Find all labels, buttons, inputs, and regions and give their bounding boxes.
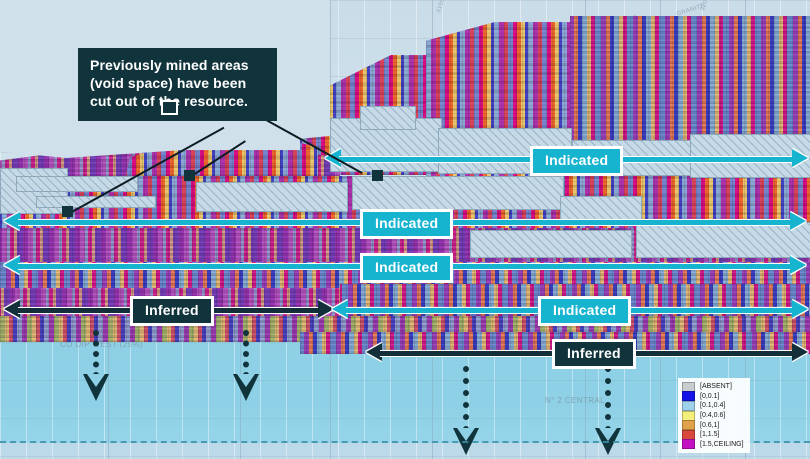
callout-anchor-dot	[62, 206, 73, 217]
legend-label: [0,0.1]	[700, 393, 719, 400]
void-polygon	[360, 106, 416, 130]
legend-swatch-15-ceiling	[682, 439, 695, 449]
legend-swatch-0-01	[682, 391, 695, 401]
void-polygon	[470, 230, 632, 258]
legend-label: [ABSENT]	[700, 383, 732, 390]
legend-label: [0.1,0.4]	[700, 402, 725, 409]
classification-tag-inferred-1: Inferred	[130, 296, 214, 326]
legend-item: [0.4,0.6]	[682, 411, 744, 421]
void-polygon	[352, 176, 564, 210]
continuation-arrow-down	[242, 330, 250, 402]
legend-label: [1,1.5]	[700, 431, 719, 438]
legend-item: [ABSENT]	[682, 382, 744, 392]
legend-swatch-04-06	[682, 411, 695, 421]
callout-anchor-dot	[184, 170, 195, 181]
classification-tag-indicated-4: Indicated	[538, 296, 631, 326]
legend-item: [1,1.5]	[682, 430, 744, 440]
legend-swatch-06-1	[682, 420, 695, 430]
cross-section-figure: 3050N 3100N 3150N 3200N KILLAS LODE GRAN…	[0, 0, 810, 459]
legend-swatch-absent	[682, 382, 695, 392]
classification-tag-indicated-2: Indicated	[360, 209, 453, 239]
legend: [ABSENT] [0,0.1] [0.1,0.4] [0.4,0.6] [0.…	[678, 378, 750, 453]
map-label-central: N° 2 CENTRAL	[545, 396, 605, 405]
legend-item: [0.6,1]	[682, 420, 744, 430]
classification-tag-indicated-3: Indicated	[360, 253, 453, 283]
legend-swatch-1-15	[682, 430, 695, 440]
legend-label: [1.5,CEILING]	[700, 441, 744, 448]
classification-tag-inferred-2: Inferred	[552, 339, 636, 369]
legend-label: [0.4,0.6]	[700, 412, 725, 419]
callout-pointer	[161, 100, 178, 115]
legend-swatch-01-04	[682, 401, 695, 411]
legend-item: [0,0.1]	[682, 392, 744, 402]
continuation-arrow-down	[92, 330, 100, 402]
callout-line-2: (void space) have been	[90, 75, 265, 93]
legend-item: [1.5,CEILING]	[682, 440, 744, 450]
classification-tag-indicated-1: Indicated	[530, 146, 623, 176]
callout-anchor-dot	[372, 170, 383, 181]
void-polygon	[196, 182, 348, 212]
legend-label: [0.6,1]	[700, 422, 719, 429]
legend-item: [0.1,0.4]	[682, 401, 744, 411]
callout-line-1: Previously mined areas	[90, 57, 265, 75]
